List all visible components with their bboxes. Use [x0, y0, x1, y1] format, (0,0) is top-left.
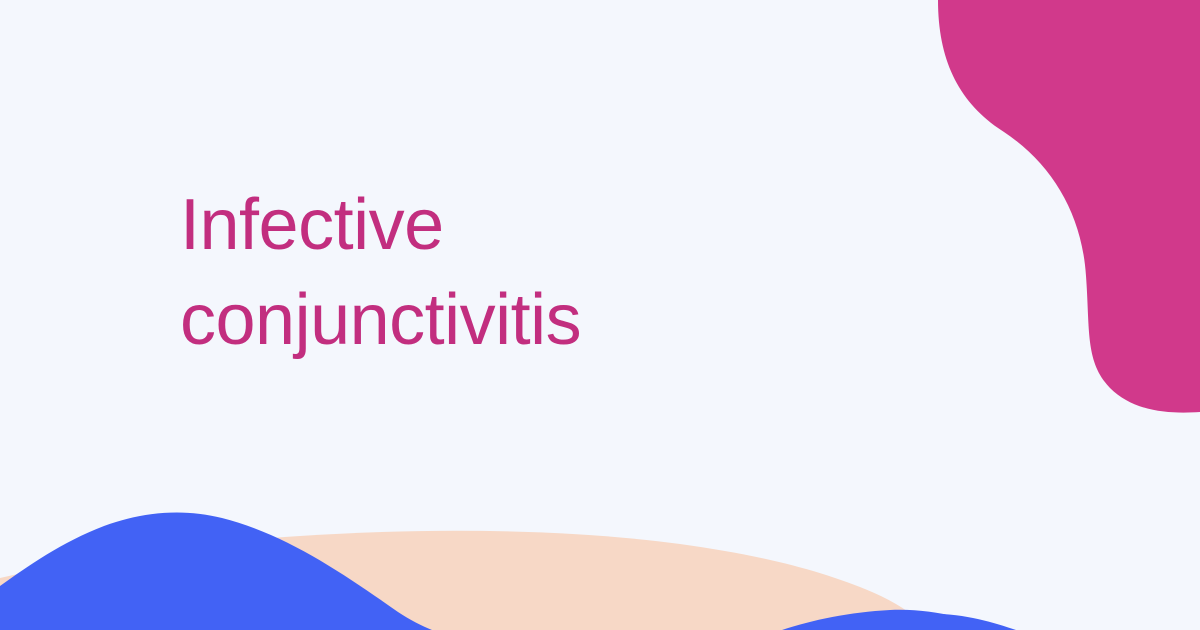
blue-blob-bottom-right-shape	[788, 614, 1016, 630]
cover-card: Infective conjunctivitis	[0, 0, 1200, 630]
blue-blob-bottom-right-crest	[782, 610, 1000, 630]
pink-blob-top-right-shape	[938, 0, 1200, 413]
page-title: Infective conjunctivitis	[180, 178, 800, 368]
page-title-line-2: conjunctivitis	[180, 273, 800, 368]
page-title-line-1: Infective	[180, 178, 800, 273]
blue-blob-bottom-left-shape	[0, 512, 432, 630]
peach-blob-bottom-shape	[0, 531, 930, 630]
